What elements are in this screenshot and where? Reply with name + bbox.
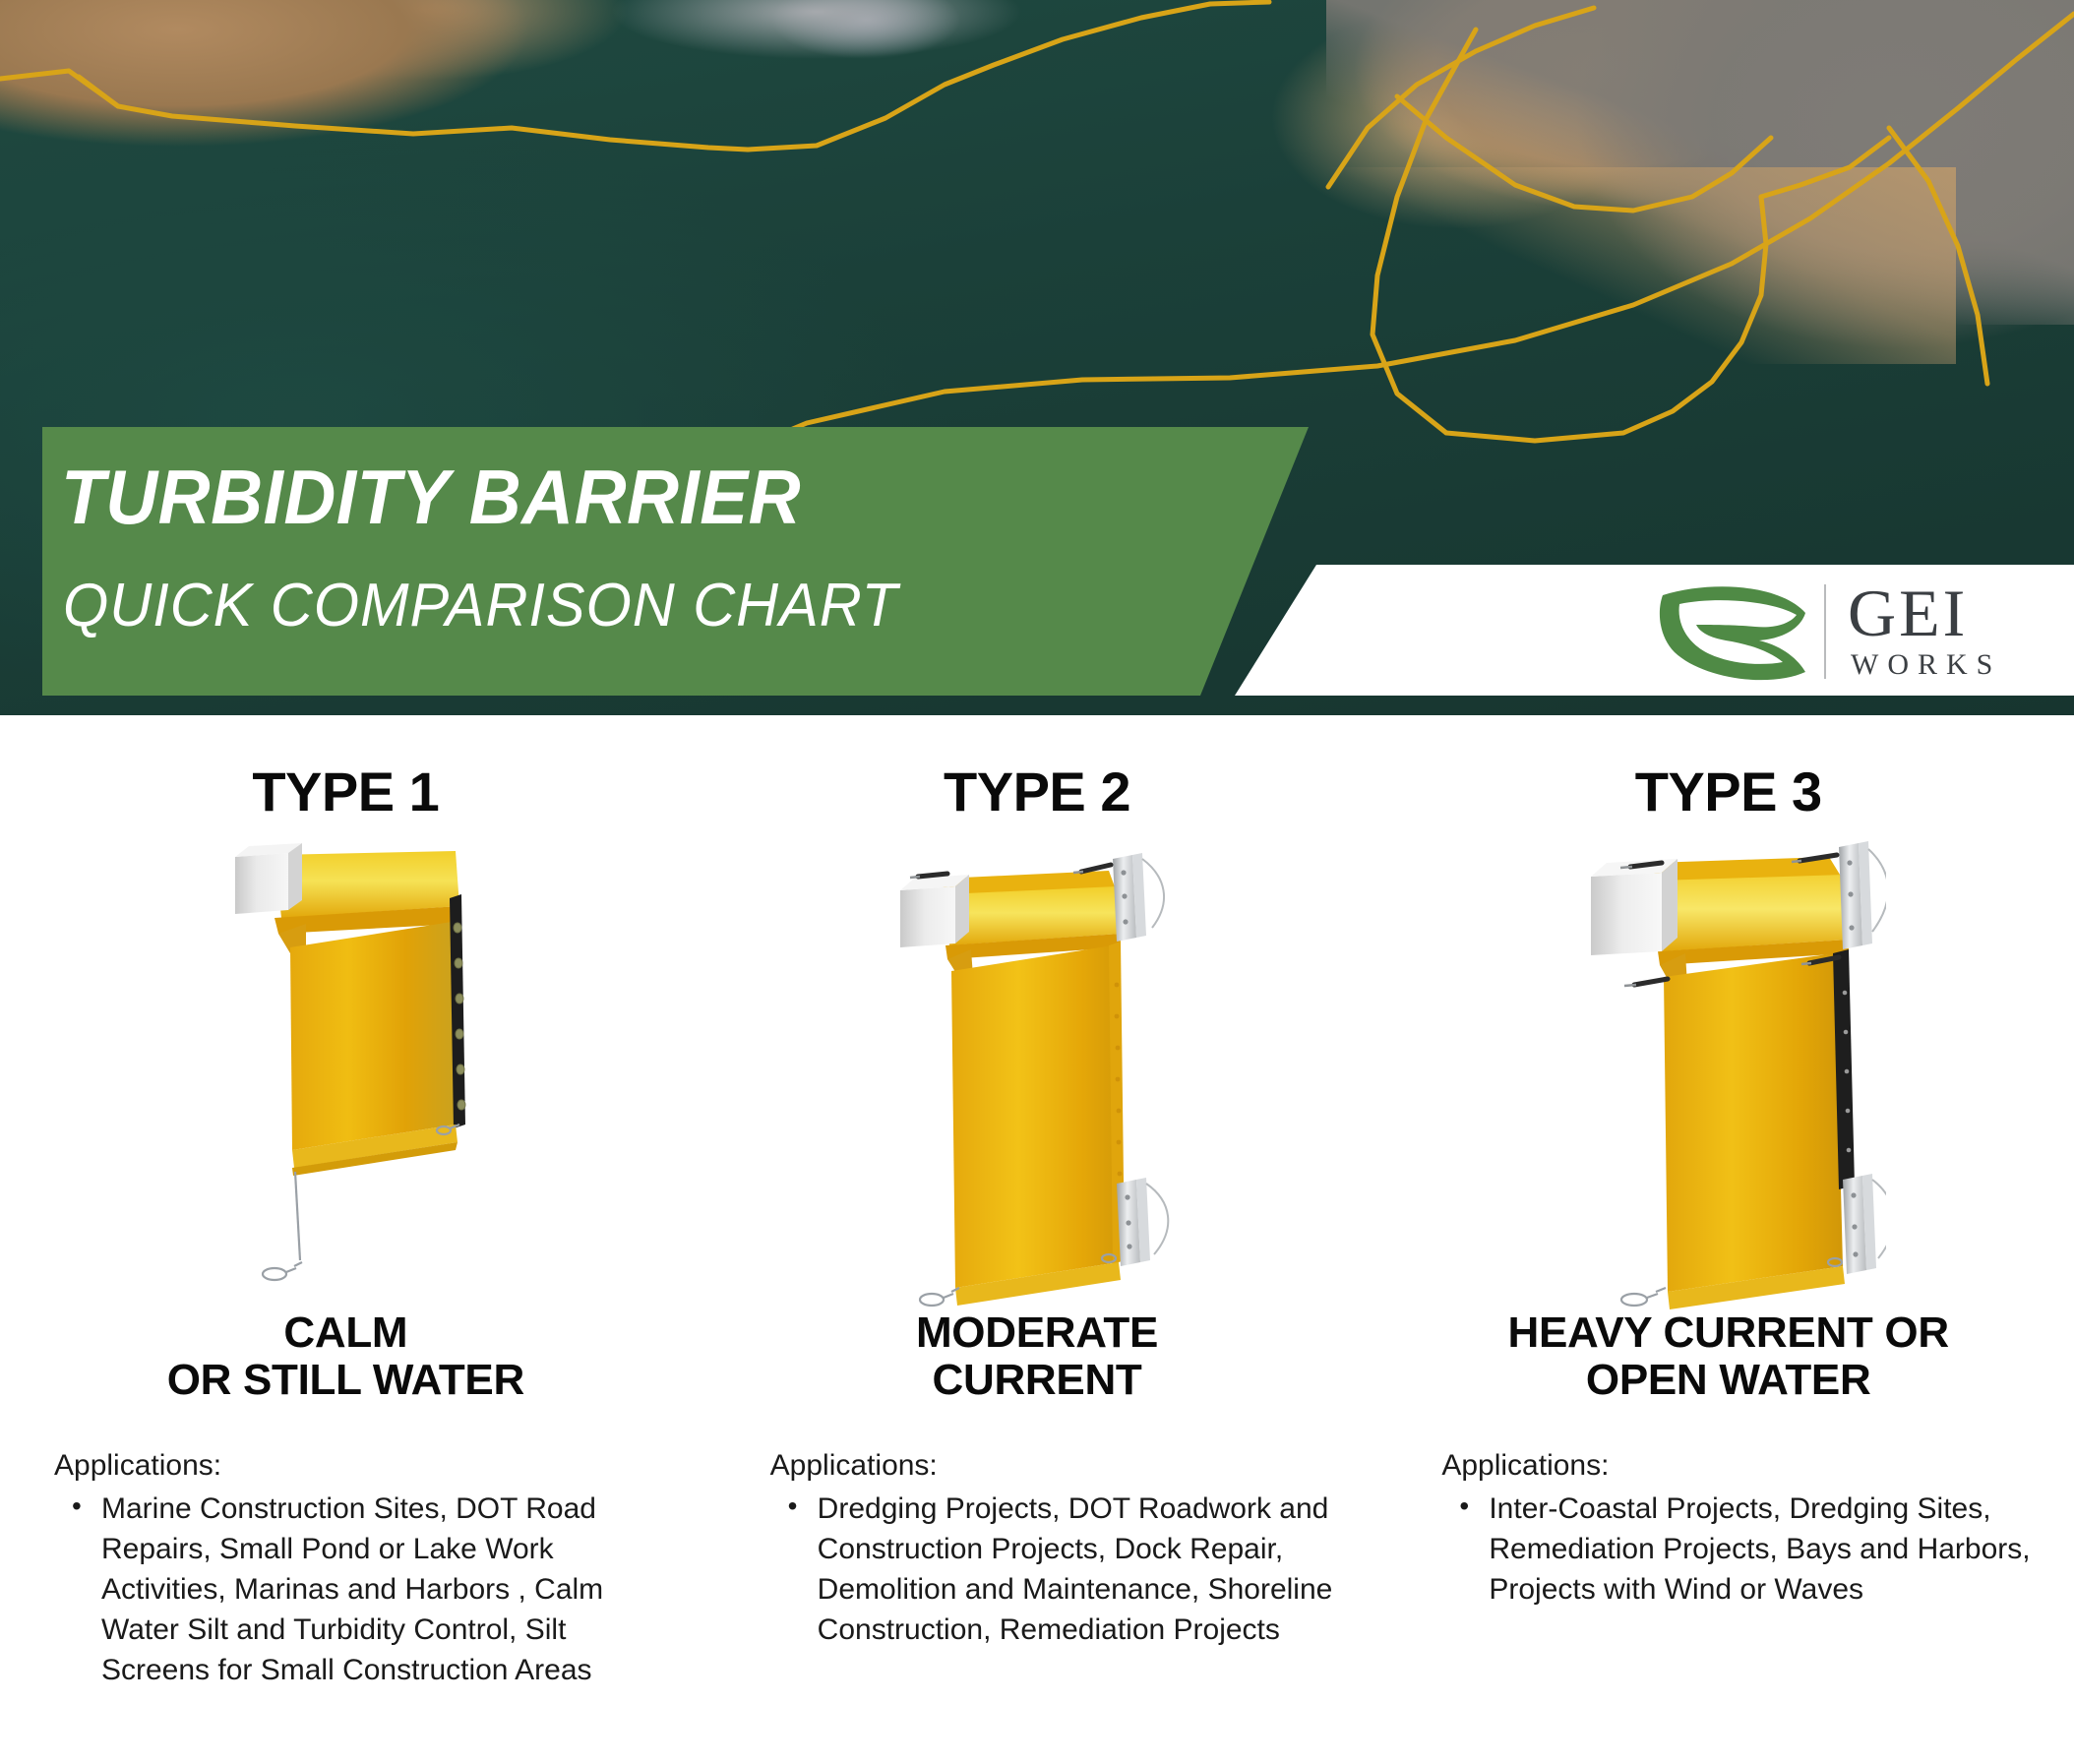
column-title-type-3: TYPE 3	[1382, 760, 2074, 823]
turbidity-barrier-type-2-illustration	[692, 837, 1383, 1300]
column-subtitle-line-2: CURRENT	[692, 1357, 1383, 1404]
page-title: TURBIDITY BARRIER	[61, 453, 801, 542]
column-title-type-2: TYPE 2	[692, 760, 1383, 823]
brand-logo: GEI WORKS	[1653, 569, 2056, 695]
turbidity-barrier-type-1-illustration	[0, 837, 692, 1300]
column-type-1: TYPE 1	[0, 715, 692, 1764]
column-subtitle-line-1: MODERATE	[692, 1309, 1383, 1357]
applications-label: Applications:	[1441, 1446, 2044, 1487]
column-title-type-1: TYPE 1	[0, 760, 692, 823]
column-subtitle-type-1: CALM OR STILL WATER	[0, 1309, 692, 1403]
column-subtitle-type-2: MODERATE CURRENT	[692, 1309, 1383, 1403]
applications-list: Inter-Coastal Projects, Dredging Sites, …	[1441, 1489, 2044, 1610]
applications-label: Applications:	[54, 1446, 666, 1487]
applications-label: Applications:	[770, 1446, 1364, 1487]
applications-block-type-1: Applications: Marine Construction Sites,…	[0, 1446, 692, 1690]
logo-name: GEI	[1848, 581, 2001, 645]
page-subtitle: QUICK COMPARISON CHART	[63, 571, 898, 640]
column-subtitle-line-1: CALM	[0, 1309, 692, 1357]
logo-tagline: WORKS	[1851, 648, 2001, 682]
column-subtitle-line-2: OR STILL WATER	[0, 1357, 692, 1404]
applications-list: Dredging Projects, DOT Roadwork and Cons…	[770, 1489, 1364, 1650]
logo-wordmark: GEI WORKS	[1848, 581, 2001, 683]
applications-block-type-2: Applications: Dredging Projects, DOT Roa…	[692, 1446, 1383, 1650]
column-subtitle-type-3: HEAVY CURRENT OR OPEN WATER	[1382, 1309, 2074, 1403]
list-item: Dredging Projects, DOT Roadwork and Cons…	[812, 1489, 1364, 1650]
hero-banner: TURBIDITY BARRIER QUICK COMPARISON CHART…	[0, 0, 2074, 715]
column-subtitle-line-2: OPEN WATER	[1382, 1357, 2074, 1404]
column-type-3: TYPE 3	[1382, 715, 2074, 1764]
applications-list: Marine Construction Sites, DOT Road Repa…	[54, 1489, 666, 1690]
list-item: Inter-Coastal Projects, Dredging Sites, …	[1483, 1489, 2044, 1610]
applications-block-type-3: Applications: Inter-Coastal Projects, Dr…	[1382, 1446, 2074, 1610]
turbidity-barrier-type-3-illustration	[1382, 837, 2074, 1300]
column-type-2: TYPE 2	[692, 715, 1383, 1764]
list-item: Marine Construction Sites, DOT Road Repa…	[95, 1489, 666, 1690]
column-subtitle-line-1: HEAVY CURRENT OR	[1382, 1309, 2074, 1357]
logo-divider	[1824, 584, 1826, 679]
comparison-columns: TYPE 1	[0, 715, 2074, 1764]
leaf-icon	[1653, 578, 1810, 686]
